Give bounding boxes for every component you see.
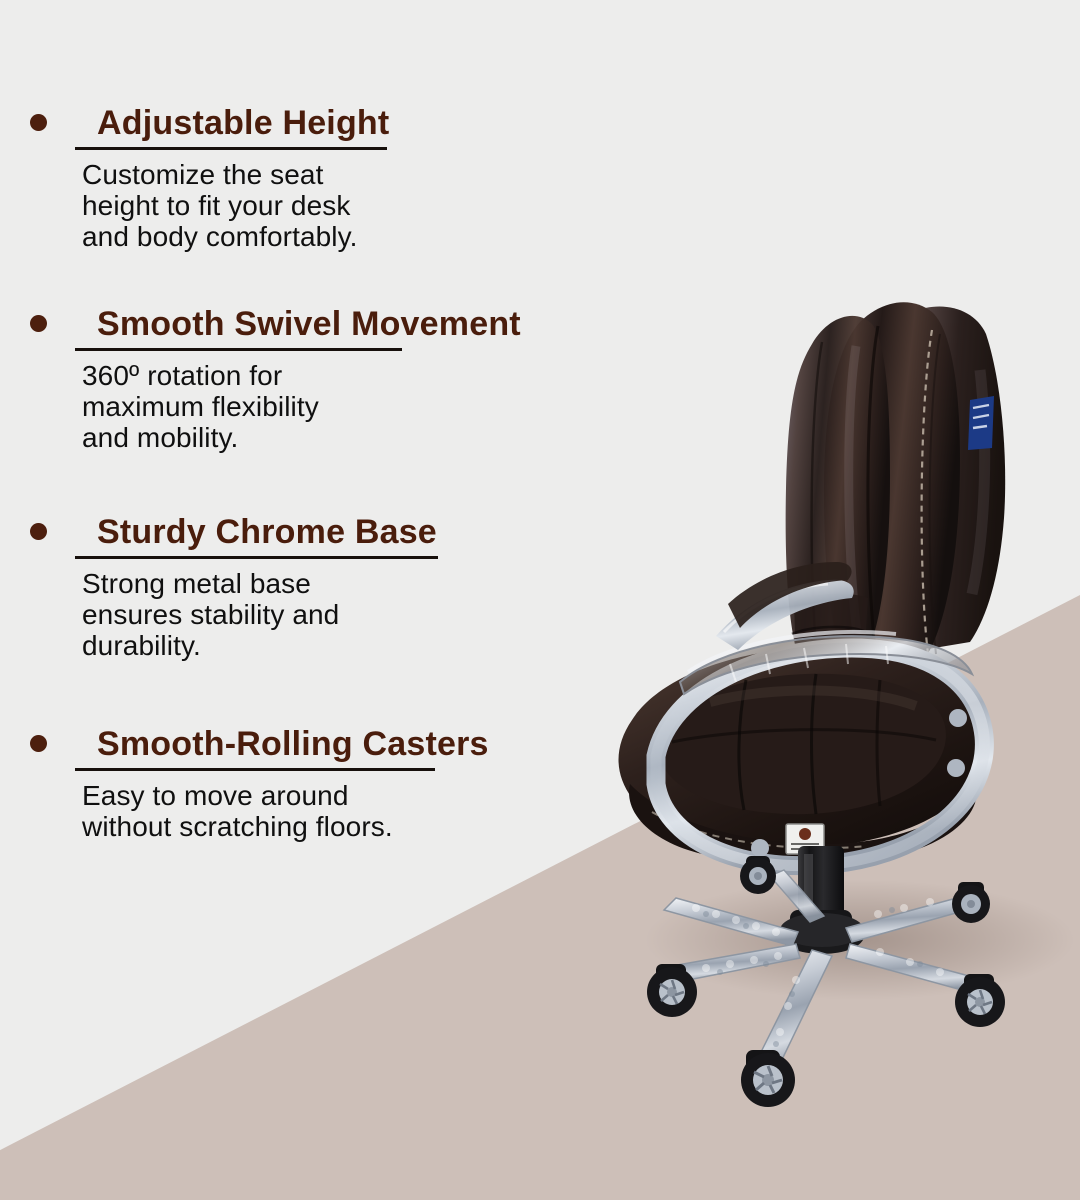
feature-heading-row: Adjustable Height <box>0 104 600 142</box>
feature-heading-row: Smooth-Rolling Casters <box>0 725 600 763</box>
feature-heading-wrap: Adjustable Height <box>75 104 393 142</box>
feature-description: Easy to move around without scratching f… <box>82 780 600 842</box>
feature-heading-row: Smooth Swivel Movement <box>0 305 600 343</box>
bullet-dot-icon <box>30 114 47 131</box>
caster-front-center <box>741 1050 795 1107</box>
feature-title-underline <box>75 768 435 771</box>
product-image <box>560 250 1080 1110</box>
feature-title: Smooth Swivel Movement <box>75 305 525 343</box>
feature-title: Smooth-Rolling Casters <box>75 725 493 763</box>
feature-item-smooth-rolling-casters: Smooth-Rolling Casters Easy to move arou… <box>0 725 600 842</box>
feature-title: Sturdy Chrome Base <box>75 513 441 551</box>
feature-heading-wrap: Smooth Swivel Movement <box>75 305 525 343</box>
bullet-dot-icon <box>30 735 47 752</box>
bullet-dot-icon <box>30 315 47 332</box>
feature-title: Adjustable Height <box>75 104 393 142</box>
feature-item-sturdy-chrome-base: Sturdy Chrome Base Strong metal base ens… <box>0 513 600 661</box>
feature-heading-wrap: Sturdy Chrome Base <box>75 513 441 551</box>
brand-tag <box>968 396 994 450</box>
feature-title-underline <box>75 147 387 150</box>
feature-title-underline <box>75 556 438 559</box>
feature-description: Strong metal base ensures stability and … <box>82 568 600 661</box>
feature-title-underline <box>75 348 402 351</box>
bullet-dot-icon <box>30 523 47 540</box>
feature-item-adjustable-height: Adjustable Height Customize the seat hei… <box>0 104 600 252</box>
feature-heading-wrap: Smooth-Rolling Casters <box>75 725 493 763</box>
feature-heading-row: Sturdy Chrome Base <box>0 513 600 551</box>
product-feature-poster: Adjustable Height Customize the seat hei… <box>0 0 1080 1200</box>
feature-item-smooth-swivel-movement: Smooth Swivel Movement 360º rotation for… <box>0 305 600 453</box>
feature-description: 360º rotation for maximum flexibility an… <box>82 360 600 453</box>
feature-description: Customize the seat height to fit your de… <box>82 159 600 252</box>
chair-backrest <box>786 302 1006 685</box>
feature-list: Adjustable Height Customize the seat hei… <box>0 0 620 1200</box>
